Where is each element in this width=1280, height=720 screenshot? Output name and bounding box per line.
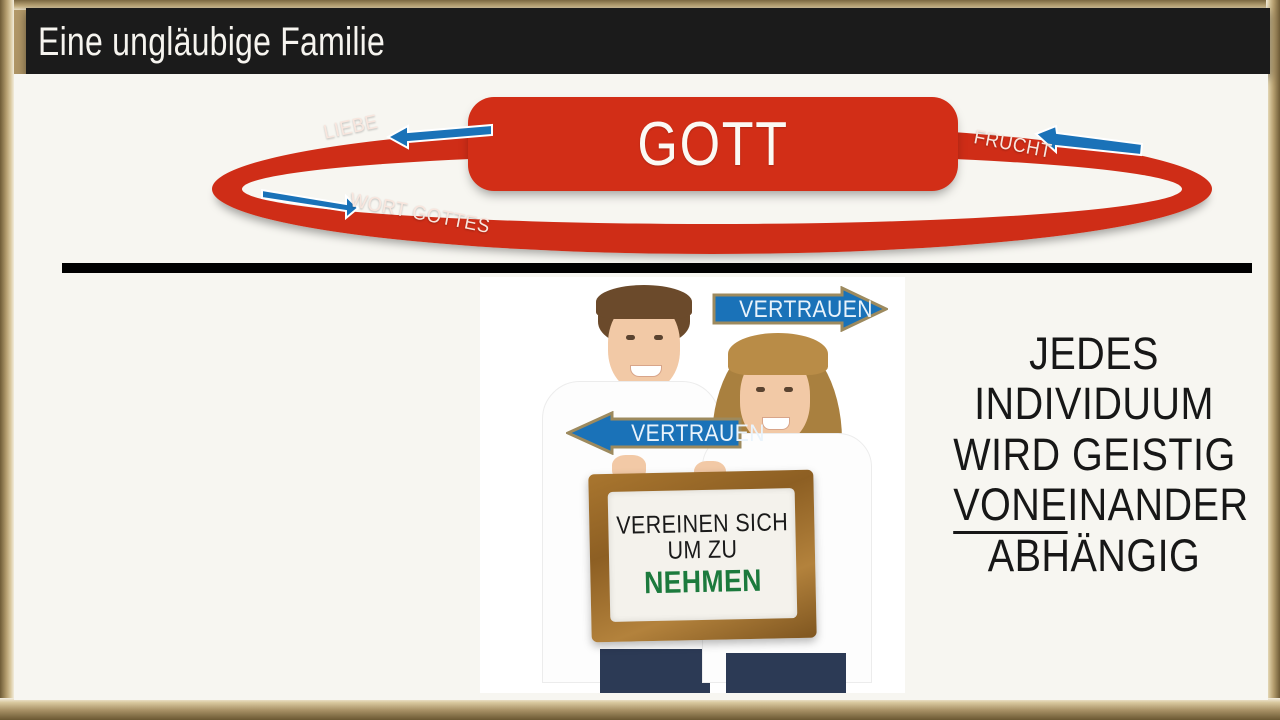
page-title: Eine ungläubige Familie xyxy=(38,12,385,72)
right-text-line-2: INDIVIDUUM xyxy=(953,379,1235,429)
liebe-arrow-icon xyxy=(386,122,494,157)
slide-border-bottom xyxy=(0,698,1280,720)
right-text-line-4: VONEINANDER xyxy=(953,480,1235,530)
right-text-block: JEDES INDIVIDUUM WIRD GEISTIG VONEINANDE… xyxy=(934,329,1254,581)
gott-box: GOTT xyxy=(468,97,958,191)
god-cycle-diagram: GOTT LIEBE WORT GOTTES xyxy=(14,74,1268,274)
man-jeans xyxy=(600,649,710,693)
slide-canvas: GOTT LIEBE WORT GOTTES xyxy=(14,74,1268,700)
sign-line-3: NEHMEN xyxy=(644,565,762,599)
man-eye-right xyxy=(654,335,663,340)
slide-root: Eine ungläubige Familie GOTT LIEBE WO xyxy=(0,0,1280,720)
section-divider xyxy=(62,263,1252,273)
title-bar: Eine ungläubige Familie xyxy=(26,8,1270,74)
man-hair-top xyxy=(596,285,692,319)
vertrauen-arrow-right: VERTRAUEN xyxy=(712,286,888,332)
gott-label: GOTT xyxy=(637,109,788,180)
vertrauen-arrow-right-label: VERTRAUEN xyxy=(739,296,873,324)
sign-board: VEREINEN SICH UM ZU NEHMEN xyxy=(608,488,798,622)
vertrauen-arrow-left: VERTRAUEN xyxy=(566,411,742,455)
right-text-line-4-rest: INANDER xyxy=(1067,479,1248,530)
woman-smile xyxy=(762,417,790,430)
woman-eye-left xyxy=(756,387,765,392)
ring-label-liebe: LIEBE xyxy=(322,111,381,145)
vertrauen-arrow-left-label: VERTRAUEN xyxy=(631,420,765,448)
woman-jeans xyxy=(726,653,846,693)
right-text-line-4-underlined: VONE xyxy=(953,479,1067,534)
right-text-line-3: WIRD GEISTIG xyxy=(953,430,1235,480)
woman-eye-right xyxy=(784,387,793,392)
woman-hair-top xyxy=(728,333,828,375)
right-text-line-5: ABHÄNGIG xyxy=(953,531,1235,581)
wooden-sign: VEREINEN SICH UM ZU NEHMEN xyxy=(588,470,816,643)
wort-gottes-arrow-icon xyxy=(260,186,360,225)
right-text-line-1: JEDES xyxy=(953,329,1235,379)
sign-line-2: UM ZU xyxy=(667,537,737,564)
couple-photo: VEREINEN SICH UM ZU NEHMEN xyxy=(480,277,905,693)
man-smile xyxy=(630,365,662,377)
slide-border-right xyxy=(1266,0,1280,720)
man-eye-left xyxy=(626,335,635,340)
slide-border-left xyxy=(0,0,14,720)
